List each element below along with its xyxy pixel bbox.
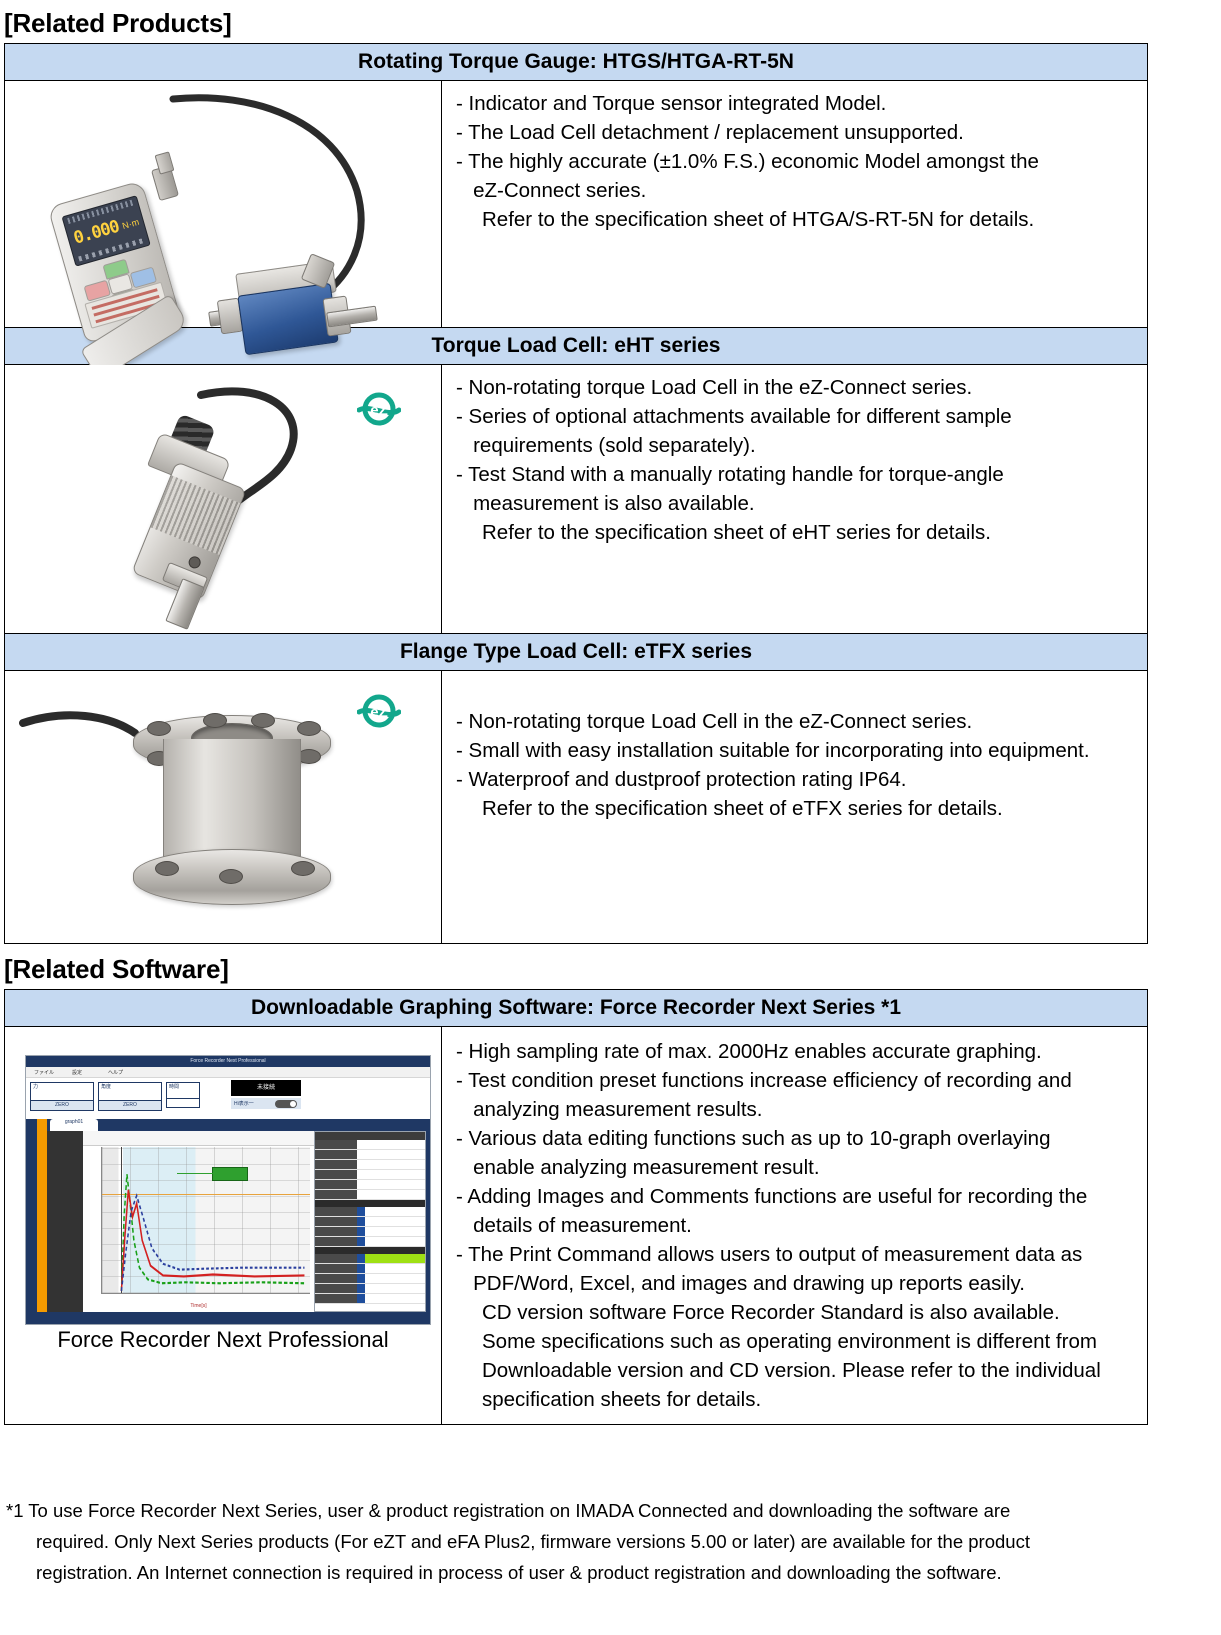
screenshot-menu-bar: ファイル 設定 ヘルプ	[26, 1067, 430, 1078]
svg-text:eZ: eZ	[370, 704, 388, 721]
panel-label-time: 時間	[167, 1083, 199, 1090]
parameter-row	[315, 1140, 425, 1150]
footnote: *1 To use Force Recorder Next Series, us…	[6, 1495, 1196, 1588]
panel-section-header	[315, 1132, 425, 1140]
readout-panel-time: 時間	[166, 1082, 200, 1108]
workspace-tool-rail	[47, 1131, 83, 1312]
related-products-heading: [Related Products]	[0, 0, 1221, 43]
parameter-row	[315, 1150, 425, 1160]
product-title-flange-type-load-cell: Flange Type Load Cell: eTFX series	[5, 634, 1148, 671]
panel-value-force	[31, 1090, 93, 1101]
parameter-row	[315, 1284, 425, 1294]
zero-button-force: ZERO	[31, 1101, 93, 1110]
parameter-row	[315, 1180, 425, 1190]
software-bullets: - High sampling rate of max. 2000Hz enab…	[456, 1037, 1137, 1298]
zero-button-angle: ZERO	[99, 1101, 161, 1110]
related-software-heading: [Related Software]	[0, 944, 1221, 989]
related-products-table: Rotating Torque Gauge: HTGS/HTGA-RT-5N 0…	[4, 43, 1148, 944]
product-refer-note: Refer to the specification sheet of eTFX…	[456, 794, 1137, 823]
screenshot-readout-panels: 力 ZERO 角度 ZERO 時間	[26, 1078, 430, 1113]
plot-x-axis-label: Time[s]	[190, 1303, 206, 1309]
panel-label-angle: 角度	[99, 1083, 161, 1090]
product-bullets: - Non-rotating torque Load Cell in the e…	[456, 707, 1137, 794]
menu-item-help: ヘルプ	[108, 1069, 123, 1076]
ez-connect-badge-icon: eZ	[357, 387, 401, 431]
table-row: Torque Load Cell: eHT series	[5, 328, 1148, 365]
product-description-flange-type-load-cell: - Non-rotating torque Load Cell in the e…	[442, 671, 1148, 944]
product-refer-note: Refer to the specification sheet of eHT …	[456, 518, 1137, 547]
parameter-row	[315, 1294, 425, 1304]
gauge-display-unit: N·m	[121, 217, 140, 231]
product-refer-note: Refer to the specification sheet of HTGA…	[456, 205, 1137, 234]
menu-item-settings: 設定	[72, 1069, 82, 1076]
parameter-row	[315, 1237, 425, 1247]
flange-bolt-hole	[297, 721, 321, 736]
panel-label-force: 力	[31, 1083, 93, 1090]
parameter-row	[315, 1254, 425, 1264]
product-title-rotating-torque-gauge: Rotating Torque Gauge: HTGS/HTGA-RT-5N	[5, 44, 1148, 81]
parameter-row	[315, 1207, 425, 1217]
graph-toolbar	[83, 1131, 314, 1146]
hi-display-toggle-switch	[275, 1100, 297, 1108]
flange-bolt-hole	[147, 721, 171, 736]
product-description-torque-load-cell: - Non-rotating torque Load Cell in the e…	[442, 365, 1148, 634]
parameter-row	[315, 1170, 425, 1180]
software-screenshot-cell: Force Recorder Next Professional ファイル 設定…	[5, 1027, 442, 1425]
software-note: CD version software Force Recorder Stand…	[456, 1298, 1137, 1414]
parameter-row	[315, 1227, 425, 1237]
table-row: eZ - Non-rotating torque Load Cell in th…	[5, 365, 1148, 634]
panel-section-header	[315, 1200, 425, 1207]
footnote-line-1: *1 To use Force Recorder Next Series, us…	[6, 1500, 1010, 1521]
product-image-torque-load-cell: eZ	[5, 365, 442, 634]
hi-display-label: Hi表示一	[234, 1100, 254, 1107]
parameter-row	[315, 1274, 425, 1284]
cell-port	[187, 555, 203, 571]
footnote-line-2: required. Only Next Series products (For…	[6, 1526, 1196, 1557]
plot-annotation-label	[212, 1167, 248, 1181]
table-row: Flange Type Load Cell: eTFX series	[5, 634, 1148, 671]
graph-tab: graph01	[50, 1119, 98, 1131]
panel-section-header	[315, 1247, 425, 1254]
table-row: 0.000 N·m	[5, 81, 1148, 328]
table-row: Rotating Torque Gauge: HTGS/HTGA-RT-5N	[5, 44, 1148, 81]
flange-bolt-hole	[219, 869, 243, 884]
related-software-table: Downloadable Graphing Software: Force Re…	[4, 989, 1148, 1425]
flange-bolt-hole	[203, 713, 227, 728]
hi-display-toggle-row: Hi表示一	[231, 1098, 301, 1109]
software-description: - High sampling rate of max. 2000Hz enab…	[442, 1027, 1148, 1425]
menu-item-file: ファイル	[34, 1069, 54, 1076]
plot-series	[102, 1147, 310, 1293]
connection-status-box: 未接続	[231, 1080, 301, 1096]
software-screenshot-caption: Force Recorder Next Professional	[21, 1327, 425, 1353]
flange-bolt-hole	[155, 861, 179, 876]
product-bullets: - Indicator and Torque sensor integrated…	[456, 89, 1137, 205]
parameter-panel	[314, 1131, 426, 1312]
panel-value-time-2	[167, 1099, 199, 1107]
product-title-torque-load-cell: Torque Load Cell: eHT series	[5, 328, 1148, 365]
graph-area: Time[s]	[83, 1131, 314, 1312]
readout-panel-force: 力 ZERO	[30, 1082, 94, 1111]
screenshot-workspace: graph01	[26, 1119, 430, 1324]
specification-sheet-page: [Related Products] Rotating Torque Gauge…	[0, 0, 1221, 1635]
force-recorder-screenshot: Force Recorder Next Professional ファイル 設定…	[25, 1055, 431, 1325]
graph-plot	[101, 1147, 310, 1294]
product-image-flange-type-load-cell: eZ	[5, 671, 442, 944]
parameter-row	[315, 1217, 425, 1227]
software-title-force-recorder-next: Downloadable Graphing Software: Force Re…	[5, 990, 1148, 1027]
product-bullets: - Non-rotating torque Load Cell in the e…	[456, 373, 1137, 518]
gauge-display-value: 0.000	[71, 217, 121, 249]
panel-value-angle	[99, 1090, 161, 1101]
ez-connect-badge-icon: eZ	[357, 689, 401, 733]
parameter-row	[315, 1264, 425, 1274]
readout-panel-angle: 角度 ZERO	[98, 1082, 162, 1111]
product-image-rotating-torque-gauge: 0.000 N·m	[5, 81, 442, 328]
parameter-row	[315, 1190, 425, 1200]
screenshot-title-bar: Force Recorder Next Professional	[26, 1056, 430, 1067]
footnote-line-3: registration. An Internet connection is …	[6, 1557, 1196, 1588]
svg-text:eZ: eZ	[370, 402, 388, 419]
table-row: Downloadable Graphing Software: Force Re…	[5, 990, 1148, 1027]
flange-bolt-hole	[291, 861, 315, 876]
screenshot-window-title: Force Recorder Next Professional	[190, 1058, 265, 1064]
workspace-orange-rail	[37, 1119, 47, 1312]
flange-bolt-hole	[251, 713, 275, 728]
panel-value-time	[167, 1090, 199, 1099]
table-row: eZ - Non-rotating torque Load Cell in th…	[5, 671, 1148, 944]
parameter-row	[315, 1160, 425, 1170]
product-description-rotating-torque-gauge: - Indicator and Torque sensor integrated…	[442, 81, 1148, 328]
table-row: Force Recorder Next Professional ファイル 設定…	[5, 1027, 1148, 1425]
